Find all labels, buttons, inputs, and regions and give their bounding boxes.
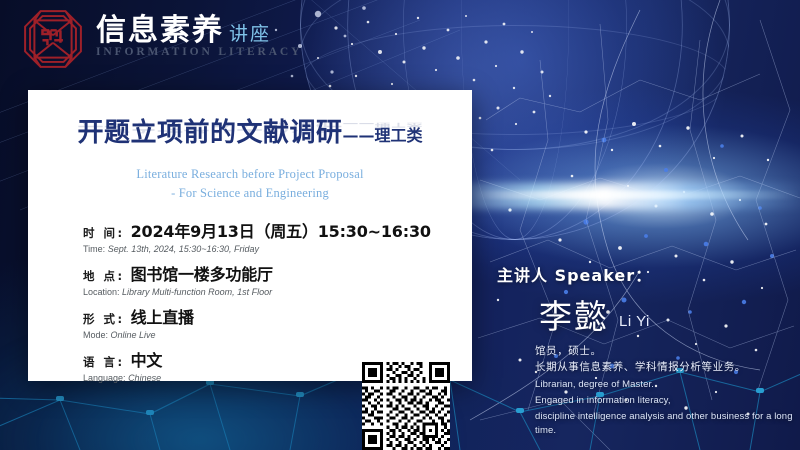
subtitle-block: Literature Research before Project Propo… xyxy=(28,165,472,204)
detail-item-language: 语 言: 中文 Language: Chinese xyxy=(83,347,333,383)
detail-item-time: 时 间: 2024年9月13日（周五）15:30~16:30 Time: Sep… xyxy=(83,218,333,254)
brand-subtitle-cn: 讲座 xyxy=(229,25,271,46)
detail-label-time: 时 间: xyxy=(83,225,125,241)
detail-sub-label-location: Location: xyxy=(83,287,120,297)
qr-code-icon[interactable] xyxy=(362,362,450,450)
detail-item-mode: 形 式: 线上直播 Mode: Online Live xyxy=(83,304,333,340)
brand-title-cn: 信息素养 xyxy=(96,16,224,46)
detail-label-mode: 形 式: xyxy=(83,311,125,327)
detail-sub-value-location: Library Multi-function Room, 1st Floor xyxy=(122,287,272,297)
detail-sub-language: Language: Chinese xyxy=(83,373,333,383)
light-beam xyxy=(430,183,800,209)
detail-sub-label-language: Language: xyxy=(83,373,126,383)
detail-sub-value-mode: Online Live xyxy=(111,330,156,340)
speaker-bio-cn-1: 馆员，硕士。 xyxy=(535,343,797,359)
detail-sub-value-time: Sept. 13th, 2024, 15:30~16:30, Friday xyxy=(108,244,259,254)
detail-sub-mode: Mode: Online Live xyxy=(83,330,333,340)
subtitle-line-2: - For Science and Engineering xyxy=(28,184,472,203)
speaker-name-en: Li Yi xyxy=(619,313,650,333)
title-suffix: ——理工类 xyxy=(343,126,423,145)
detail-sub-time: Time: Sept. 13th, 2024, 15:30~16:30, Fri… xyxy=(83,244,333,254)
event-details-list: 时 间: 2024年9月13日（周五）15:30~16:30 Time: Sep… xyxy=(83,218,333,390)
detail-value-time: 2024年9月13日（周五）15:30~16:30 xyxy=(131,218,431,242)
subtitle-line-1: Literature Research before Project Propo… xyxy=(28,165,472,184)
poster-canvas: 信息素养 讲座 INFORMATION LITERACY 开题立项前的文献调研—… xyxy=(0,0,800,450)
speaker-bio-en-1: Librarian, degree of Master. xyxy=(535,378,797,392)
light-beam-core xyxy=(470,191,800,199)
detail-value-language: 中文 xyxy=(131,347,163,371)
detail-value-mode: 线上直播 xyxy=(131,304,194,328)
octagon-emblem-icon xyxy=(22,8,84,70)
speaker-name-row: 李懿 Li Yi xyxy=(539,300,797,333)
detail-item-location: 地 点: 图书馆一楼多功能厅 Location: Library Multi-f… xyxy=(83,261,333,297)
detail-sub-label-mode: Mode: xyxy=(83,330,108,340)
detail-label-location: 地 点: xyxy=(83,268,125,284)
title-main: 开题立项前的文献调研 xyxy=(77,118,342,148)
speaker-bio-cn-2: 长期从事信息素养、学科情报分析等业务。 xyxy=(535,359,797,375)
speaker-bio-en-3: discipline intelligence analysis and oth… xyxy=(535,410,797,439)
qr-block[interactable]: Use DingDing scan to watch xyxy=(358,362,453,450)
speaker-bio-en-2: Engaged in information literacy, xyxy=(535,394,797,408)
detail-sub-value-language: Chinese xyxy=(128,373,161,383)
speaker-bio: 馆员，硕士。 长期从事信息素养、学科情报分析等业务。 Librarian, de… xyxy=(535,343,797,439)
detail-sub-label-time: Time: xyxy=(83,244,105,254)
brand-title-en: INFORMATION LITERACY xyxy=(96,47,302,59)
brand-header: 信息素养 讲座 INFORMATION LITERACY xyxy=(22,8,302,70)
speaker-name-cn: 李懿 xyxy=(539,300,609,333)
page-title: 开题立项前的文献调研——理工类 xyxy=(77,112,422,149)
speaker-block: 主讲人 Speaker： 李懿 Li Yi 馆员，硕士。 长期从事信息素养、学科… xyxy=(497,262,797,439)
detail-label-language: 语 言: xyxy=(83,354,125,370)
title-block: 开题立项前的文献调研——理工类 开题立项前的文献调研——理工类 xyxy=(28,112,472,149)
detail-sub-location: Location: Library Multi-function Room, 1… xyxy=(83,287,333,297)
info-card: 开题立项前的文献调研——理工类 开题立项前的文献调研——理工类 Literatu… xyxy=(28,90,472,381)
detail-value-location: 图书馆一楼多功能厅 xyxy=(131,261,273,285)
speaker-heading: 主讲人 Speaker： xyxy=(497,262,797,286)
